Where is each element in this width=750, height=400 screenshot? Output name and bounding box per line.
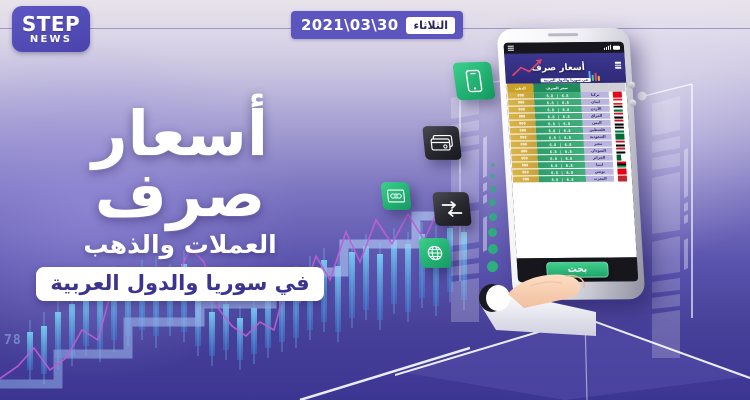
flag-icon — [615, 120, 624, 126]
gold-price-cell: 000 — [509, 113, 535, 119]
rate-separator: | — [561, 177, 564, 182]
country-flag-cell — [612, 134, 629, 140]
gold-price-cell: 000 — [512, 169, 538, 175]
exchange-rate-cell: 6.8|6.8 — [538, 162, 586, 168]
rate-separator: | — [560, 156, 563, 161]
rate-buy: 6.8 — [548, 128, 555, 133]
country-name-cell: الجزائر — [585, 155, 614, 161]
rate-buy: 6.8 — [549, 135, 556, 140]
th-gold: الذهب — [507, 83, 534, 92]
rates-table-body: تركيا6.8|6.8000لبنان6.8|6.8000الأردن6.8|… — [508, 92, 632, 184]
rate-buy: 6.8 — [550, 149, 557, 154]
rate-buy: 6.8 — [550, 163, 557, 168]
rate-separator: | — [556, 93, 559, 98]
country-name-cell: مصر — [584, 141, 613, 147]
exchange-rate-cell: 6.8|6.8 — [536, 127, 584, 133]
gold-price-cell: 000 — [512, 162, 538, 168]
gold-price-cell: 000 — [511, 148, 537, 154]
gold-price-cell: 000 — [508, 99, 534, 105]
country-name-cell: اليمن — [583, 120, 612, 126]
gold-price-cell: 000 — [511, 155, 537, 161]
rate-sell: 6.8 — [566, 162, 573, 167]
rate-separator: | — [558, 128, 561, 133]
flag-icon — [616, 148, 625, 154]
table-row[interactable]: المغرب6.8|6.8000 — [513, 175, 632, 183]
dot-6 — [488, 228, 497, 237]
page-title: أسعار صرف — [0, 104, 360, 226]
globe-currency-icon[interactable] — [418, 238, 451, 268]
exchange-rate-cell: 6.8|6.8 — [537, 155, 585, 161]
country-name-cell: المغرب — [586, 176, 615, 182]
ground-edge-line — [300, 348, 470, 400]
country-flag-cell — [614, 168, 631, 174]
country-flag-cell — [612, 141, 629, 147]
rate-separator: | — [560, 163, 563, 168]
exchange-rate-cell: 6.8|6.8 — [534, 106, 582, 112]
dot-5 — [489, 213, 497, 221]
flag-icon — [613, 92, 622, 98]
phone-speaker-notch — [548, 33, 578, 36]
country-flag-cell — [610, 113, 627, 119]
country-flag-cell — [613, 155, 630, 161]
rate-buy: 6.8 — [551, 177, 558, 182]
hand-pressing-search — [478, 252, 628, 342]
flag-icon — [615, 127, 624, 133]
dot-4 — [489, 199, 496, 206]
gold-price-cell: 000 — [510, 127, 536, 133]
exchange-rate-cell: 6.8|6.8 — [535, 113, 583, 119]
rate-separator: | — [559, 142, 562, 147]
rate-separator: | — [561, 170, 564, 175]
rate-sell: 6.8 — [562, 100, 569, 105]
gold-price-cell: 000 — [513, 176, 539, 182]
rate-separator: | — [559, 135, 562, 140]
flag-icon — [618, 175, 627, 181]
phone-screen: أسعار صرف في سوريا والدول العربية — [503, 42, 638, 283]
country-name-cell: تونس — [585, 169, 614, 175]
money-transfer-icon[interactable] — [380, 182, 411, 210]
rate-separator: | — [558, 121, 561, 126]
rate-buy: 6.8 — [549, 142, 556, 147]
app-subtitle: في سوريا والدول العربية — [541, 78, 592, 82]
phone-volume-button-down[interactable] — [629, 100, 636, 107]
rate-separator: | — [556, 100, 559, 105]
th-rate: سعر الصرف — [533, 83, 581, 92]
trend-arrow-up-icon — [510, 57, 545, 77]
flag-icon — [616, 141, 625, 147]
rate-sell: 6.8 — [564, 142, 571, 147]
exchange-rate-cell: 6.8|6.8 — [537, 141, 585, 147]
rate-buy: 6.8 — [547, 114, 554, 119]
exchange-rate-cell: 6.8|6.8 — [538, 169, 586, 175]
rate-buy: 6.8 — [551, 170, 558, 175]
app-menu-icon[interactable] — [615, 62, 621, 69]
exchange-rate-cell: 6.8|6.8 — [534, 92, 582, 98]
hamburger-menu-icon[interactable] — [508, 46, 514, 51]
rate-sell: 6.8 — [565, 149, 572, 154]
gold-price-cell: 000 — [511, 141, 537, 147]
th-country — [580, 83, 609, 92]
flag-icon — [614, 113, 623, 119]
chart-annotation-78: 78 — [4, 333, 22, 348]
credit-card-icon[interactable] — [422, 126, 462, 160]
rate-separator: | — [557, 107, 560, 112]
app-header: أسعار صرف في سوريا والدول العربية — [504, 53, 626, 84]
country-flag-cell — [609, 92, 626, 98]
rate-sell: 6.8 — [565, 156, 572, 161]
flag-icon — [617, 162, 626, 168]
exchange-rate-cell: 6.8|6.8 — [535, 120, 583, 126]
phone-volume-button-up[interactable] — [628, 82, 635, 89]
rate-sell: 6.8 — [566, 169, 573, 174]
rate-buy: 6.8 — [547, 107, 554, 112]
page-subtitle: العملات والذهب — [0, 230, 360, 260]
dot-2 — [490, 174, 495, 179]
country-flag-cell — [614, 175, 631, 181]
rates-table: سعر الصرف الذهب تركيا6.8|6.8000لبنان6.8|… — [506, 83, 637, 259]
logo-primary-text: STEP — [22, 14, 80, 34]
rate-buy: 6.8 — [548, 121, 555, 126]
country-name-cell: ليبيا — [585, 162, 614, 168]
rate-sell: 6.8 — [566, 176, 573, 181]
flag-icon — [613, 99, 622, 105]
gold-price-cell: 000 — [510, 134, 536, 140]
gold-price-cell: 000 — [508, 106, 534, 112]
country-name-cell: السودان — [584, 148, 613, 154]
rate-sell: 6.8 — [562, 107, 569, 112]
step-news-logo[interactable]: STEP NEWS — [12, 6, 90, 52]
weekday-label: الثلاثاء — [406, 17, 455, 34]
th-flag — [609, 83, 626, 92]
rate-buy: 6.8 — [547, 100, 554, 105]
rate-separator: | — [557, 114, 560, 119]
country-name-cell: فلسطين — [583, 127, 612, 133]
country-flag-cell — [613, 148, 630, 154]
country-name-cell: لبنان — [581, 99, 610, 105]
country-name-cell: الأردن — [582, 106, 611, 112]
rate-sell: 6.8 — [563, 121, 570, 126]
country-flag-cell — [611, 127, 628, 133]
battery-icon — [613, 45, 620, 49]
rate-buy: 6.8 — [546, 93, 553, 98]
date-badge: الثلاثاء 2021\03\30 — [291, 11, 463, 39]
rate-sell: 6.8 — [563, 128, 570, 133]
exchange-rate-cell: 6.8|6.8 — [534, 99, 582, 105]
flag-icon — [618, 169, 627, 175]
dot-1 — [491, 163, 495, 167]
currency-exchange-icon[interactable] — [432, 192, 472, 226]
rate-separator: | — [559, 149, 562, 154]
country-flag-cell — [610, 106, 627, 112]
scope-pill: في سوريا والدول العربية — [36, 267, 323, 301]
rate-sell: 6.8 — [563, 114, 570, 119]
country-flag-cell — [611, 120, 628, 126]
country-name-cell: تركيا — [581, 92, 610, 98]
country-flag-cell — [610, 99, 627, 105]
signal-bars-icon — [604, 45, 611, 50]
flag-icon — [617, 155, 626, 161]
flag-icon — [614, 106, 623, 112]
logo-secondary-text: NEWS — [30, 35, 72, 45]
country-name-cell: السعودية — [583, 134, 612, 140]
exchange-rate-cell: 6.8|6.8 — [536, 134, 584, 140]
gold-price-cell: 000 — [509, 120, 535, 126]
exchange-rate-cell: 6.8|6.8 — [537, 148, 585, 154]
country-name-cell: العراق — [582, 113, 611, 119]
flag-icon — [615, 134, 624, 140]
gold-price-cell: 000 — [508, 92, 534, 98]
decorative-panel-stack-right — [626, 58, 722, 358]
rate-sell: 6.8 — [561, 93, 568, 98]
date-label: 2021\03\30 — [301, 16, 398, 34]
mobile-phone-icon[interactable] — [452, 62, 495, 101]
dot-3 — [490, 186, 496, 192]
rate-buy: 6.8 — [550, 156, 557, 161]
country-flag-cell — [613, 161, 630, 167]
exchange-rate-cell: 6.8|6.8 — [539, 176, 587, 182]
headline-block: أسعار صرف العملات والذهب في سوريا والدول… — [0, 104, 360, 301]
infographic-canvas: 78 101 STEP NEWS الثلاثاء 2021\03\30 أسع… — [0, 0, 750, 400]
rate-sell: 6.8 — [564, 135, 571, 140]
